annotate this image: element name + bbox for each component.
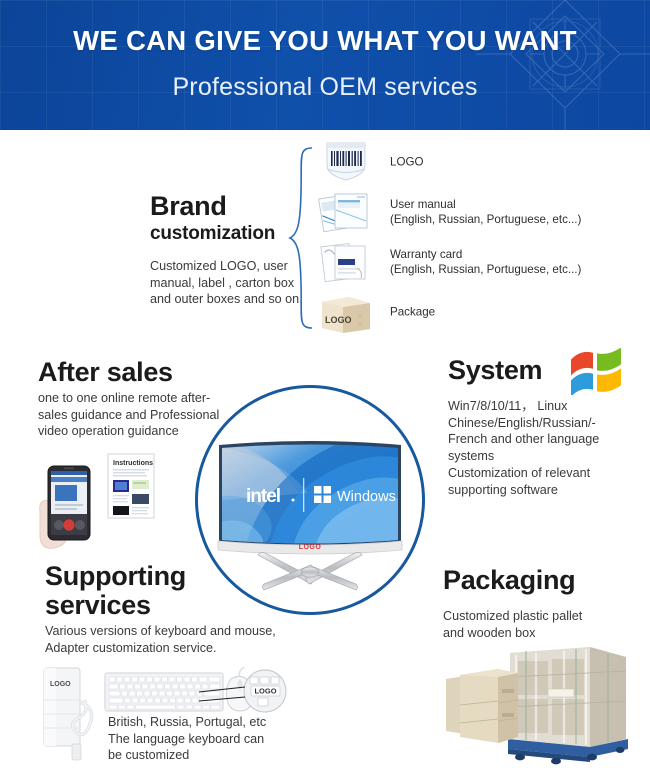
after-sales-title: After sales	[38, 358, 173, 387]
barcode-label-icon	[313, 138, 379, 185]
brand-item-package: LOGO Package	[313, 288, 643, 335]
system-desc-line: Customization of relevant	[448, 465, 648, 482]
brand-item-label: Package	[390, 304, 435, 319]
keyboard-note-line: British, Russia, Portugal, etc	[108, 714, 298, 731]
packaging-title: Packaging	[443, 566, 575, 595]
supporting-title-line2: services	[45, 591, 225, 620]
brand-item-sublabel: (English, Russian, Portuguese, etc...)	[390, 212, 581, 227]
brand-subtitle: customization	[150, 224, 300, 245]
brand-item-user-manual: User manual (English, Russian, Portugues…	[313, 188, 643, 235]
user-manual-icon	[313, 188, 379, 235]
monitor-bezel-logo: LOGO	[299, 544, 322, 551]
instructions-doc-title: Instructions	[113, 460, 153, 467]
supporting-title-line1: Supporting	[45, 562, 225, 591]
brand-items-list: LOGO User manual (English, Russia	[313, 138, 643, 338]
system-desc-line: French and other language	[448, 431, 648, 448]
brand-item-sublabel: (English, Russian, Portuguese, etc...)	[390, 262, 581, 277]
packaging-desc-line: Customized plastic pallet	[443, 608, 633, 625]
keyboard-note-line: be customized	[108, 747, 298, 764]
keyboard-note-line: The language keyboard can	[108, 731, 298, 748]
brand-item-label: User manual	[390, 196, 581, 211]
warranty-card-icon	[313, 238, 379, 285]
supporting-description: Various versions of keyboard and mouse, …	[45, 623, 305, 656]
cardboard-cartons	[446, 669, 518, 743]
brand-item-label: LOGO	[390, 154, 424, 169]
curly-brace-icon	[288, 146, 314, 330]
brand-item-label: Warranty card	[390, 246, 581, 261]
callout-logo-text: LOGO	[254, 687, 276, 696]
after-sales-description: one to one online remote after-sales gui…	[38, 390, 228, 440]
system-description: Win7/8/10/11， Linux Chinese/English/Russ…	[448, 398, 648, 498]
keyboard-and-mouse-image: LOGO	[103, 667, 293, 717]
box-logo-text: LOGO	[325, 315, 352, 325]
oem-services-infographic: WE CAN GIVE YOU WHAT YOU WANT Profession…	[0, 0, 650, 768]
instructions-document-image: Instructions	[106, 452, 158, 522]
windows-11-label: Windows 11	[337, 489, 406, 505]
header-banner: WE CAN GIVE YOU WHAT YOU WANT Profession…	[0, 0, 650, 130]
packaging-desc-line: and wooden box	[443, 625, 633, 642]
monitor-stand	[258, 552, 362, 590]
system-desc-line: Win7/8/10/11， Linux	[448, 398, 648, 415]
brand-title: Brand	[150, 192, 300, 221]
system-desc-line: supporting software	[448, 482, 648, 499]
windows-flag-icon	[567, 348, 627, 395]
all-in-one-monitor-image: intel Windows 11 LOGO	[214, 440, 406, 595]
supporting-title-block: Supporting services	[45, 562, 225, 619]
header-headline: WE CAN GIVE YOU WHAT YOU WANT	[0, 25, 650, 57]
adapter-logo-text: LOGO	[50, 681, 71, 688]
system-desc-line: Chinese/English/Russian/-	[448, 415, 648, 432]
brand-item-logo: LOGO	[313, 138, 643, 185]
hand-holding-phone-image	[36, 452, 108, 560]
power-adapter-image: LOGO	[38, 662, 104, 762]
wrapped-pallet	[508, 647, 628, 764]
pallet-and-boxes-image	[440, 643, 640, 765]
system-desc-line: systems	[448, 448, 648, 465]
system-title: System	[448, 356, 542, 385]
packaging-description: Customized plastic pallet and wooden box	[443, 608, 633, 641]
keyboard-note: British, Russia, Portugal, etc The langu…	[108, 714, 298, 764]
brand-item-warranty-card: Warranty card (English, Russian, Portugu…	[313, 238, 643, 285]
header-subhead: Professional OEM services	[0, 73, 650, 102]
brand-title-block: Brand customization	[150, 192, 300, 245]
carton-box-icon: LOGO	[313, 288, 379, 335]
